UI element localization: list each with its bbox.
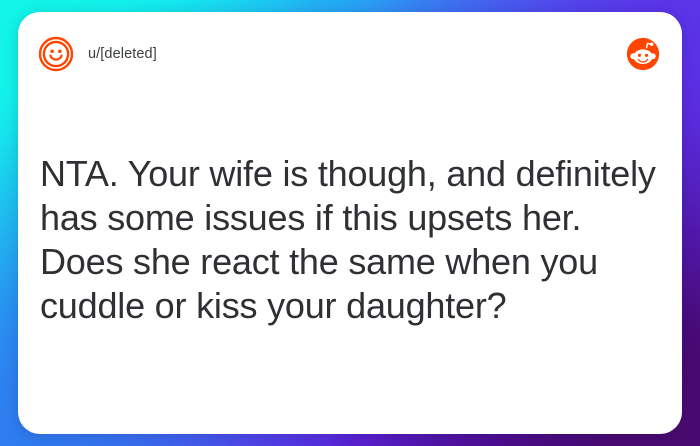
reddit-comment-card: u/[deleted] bbox=[18, 12, 682, 434]
avatar[interactable] bbox=[38, 36, 74, 72]
comment-line: has some issues if this upsets her. bbox=[40, 196, 658, 240]
comment-line: Does she react the same when you bbox=[40, 240, 658, 284]
comment-body: NTA. Your wife is though, and definitely… bbox=[40, 152, 658, 328]
comment-header: u/[deleted] bbox=[18, 12, 682, 96]
comment-line: cuddle or kiss your daughter? bbox=[40, 284, 658, 328]
smiley-face-avatar-icon bbox=[38, 36, 74, 72]
reddit-logo[interactable] bbox=[626, 37, 660, 71]
comment-line: NTA. Your wife is though, and definitely bbox=[40, 152, 658, 196]
screenshot-root: u/[deleted] bbox=[0, 0, 700, 446]
reddit-snoo-logo-icon bbox=[626, 37, 660, 71]
username-label[interactable]: u/[deleted] bbox=[88, 46, 157, 62]
